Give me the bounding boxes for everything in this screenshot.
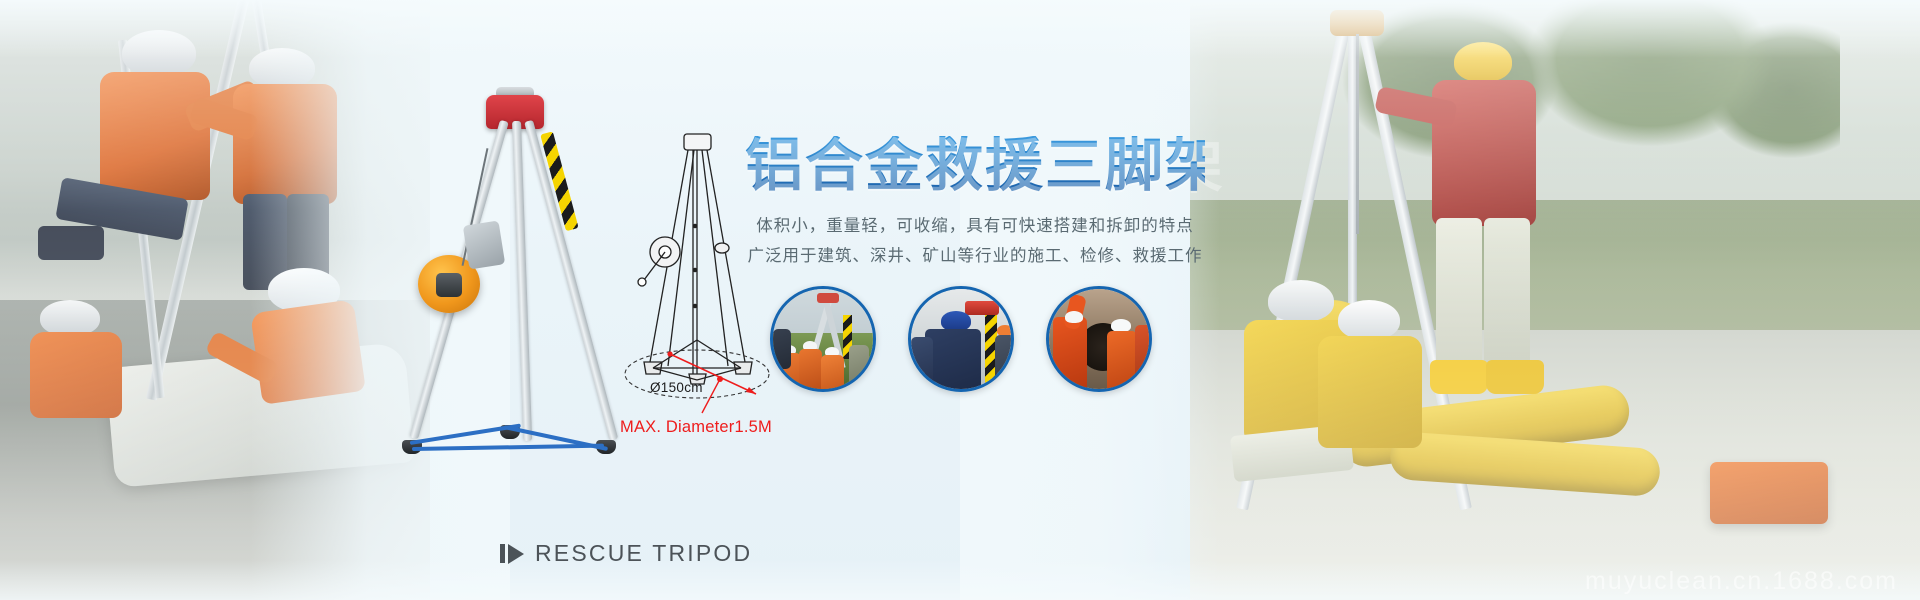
diagram-max-diameter-label: MAX. Diameter1.5M [620, 418, 772, 437]
thumbnail-confined-space-rescue[interactable] [1046, 286, 1152, 392]
winch-bracket [463, 220, 505, 269]
thumbnail-row [770, 286, 1180, 398]
thumb-person [1107, 331, 1137, 392]
rescue-tripod-label: RESCUE TRIPOD [500, 540, 752, 567]
thumb-tripod-head [817, 293, 839, 303]
thumb-person [799, 349, 822, 392]
play-bar [500, 544, 505, 563]
stabiliser-chain-back [412, 444, 604, 451]
product-banner: Ø150cm MAX. Diameter1.5M 铝合金救援三脚架 体积小，重量… [0, 0, 1920, 600]
tripod-leg-front [512, 121, 532, 441]
rescue-tripod-text: RESCUE TRIPOD [535, 540, 752, 567]
tripod-winch-core [436, 273, 462, 297]
thumb-person [821, 355, 844, 392]
page-title: 铝合金救援三脚架 [745, 136, 1205, 194]
firefighter-drill-photo [0, 0, 430, 600]
tripod-leg-right [524, 120, 618, 441]
thumb-person [849, 345, 869, 392]
play-marker-icon [500, 544, 524, 564]
diagram-diameter-label: Ø150cm [650, 380, 703, 395]
thumb-person [995, 335, 1014, 392]
thumb-white-helmet [1065, 311, 1083, 323]
right-photo-haze [1190, 0, 1920, 600]
left-photo-haze [0, 0, 430, 600]
headline-block: 铝合金救援三脚架 体积小，重量轻，可收缩，具有可快速搭建和拆卸的特点 广泛用于建… [745, 136, 1205, 270]
thumb-person [911, 337, 933, 392]
thumb-person [925, 329, 981, 392]
play-triangle [508, 544, 524, 564]
thumb-person [773, 329, 791, 369]
thumb-blue-helmet [941, 311, 971, 331]
subtitle-line-2: 广泛用于建筑、深井、矿山等行业的施工、检修、救援工作 [745, 242, 1205, 270]
thumb-person [1135, 325, 1152, 392]
thumbnail-worksite-inspection[interactable] [908, 286, 1014, 392]
thumb-red-gear [965, 301, 999, 315]
thumbnail-field-rescue-training[interactable] [770, 286, 876, 392]
subtitle-line-1: 体积小，重量轻，可收缩，具有可快速搭建和拆卸的特点 [745, 212, 1205, 240]
outdoor-rescue-photo [1190, 0, 1920, 600]
product-tripod-photo [400, 95, 630, 460]
